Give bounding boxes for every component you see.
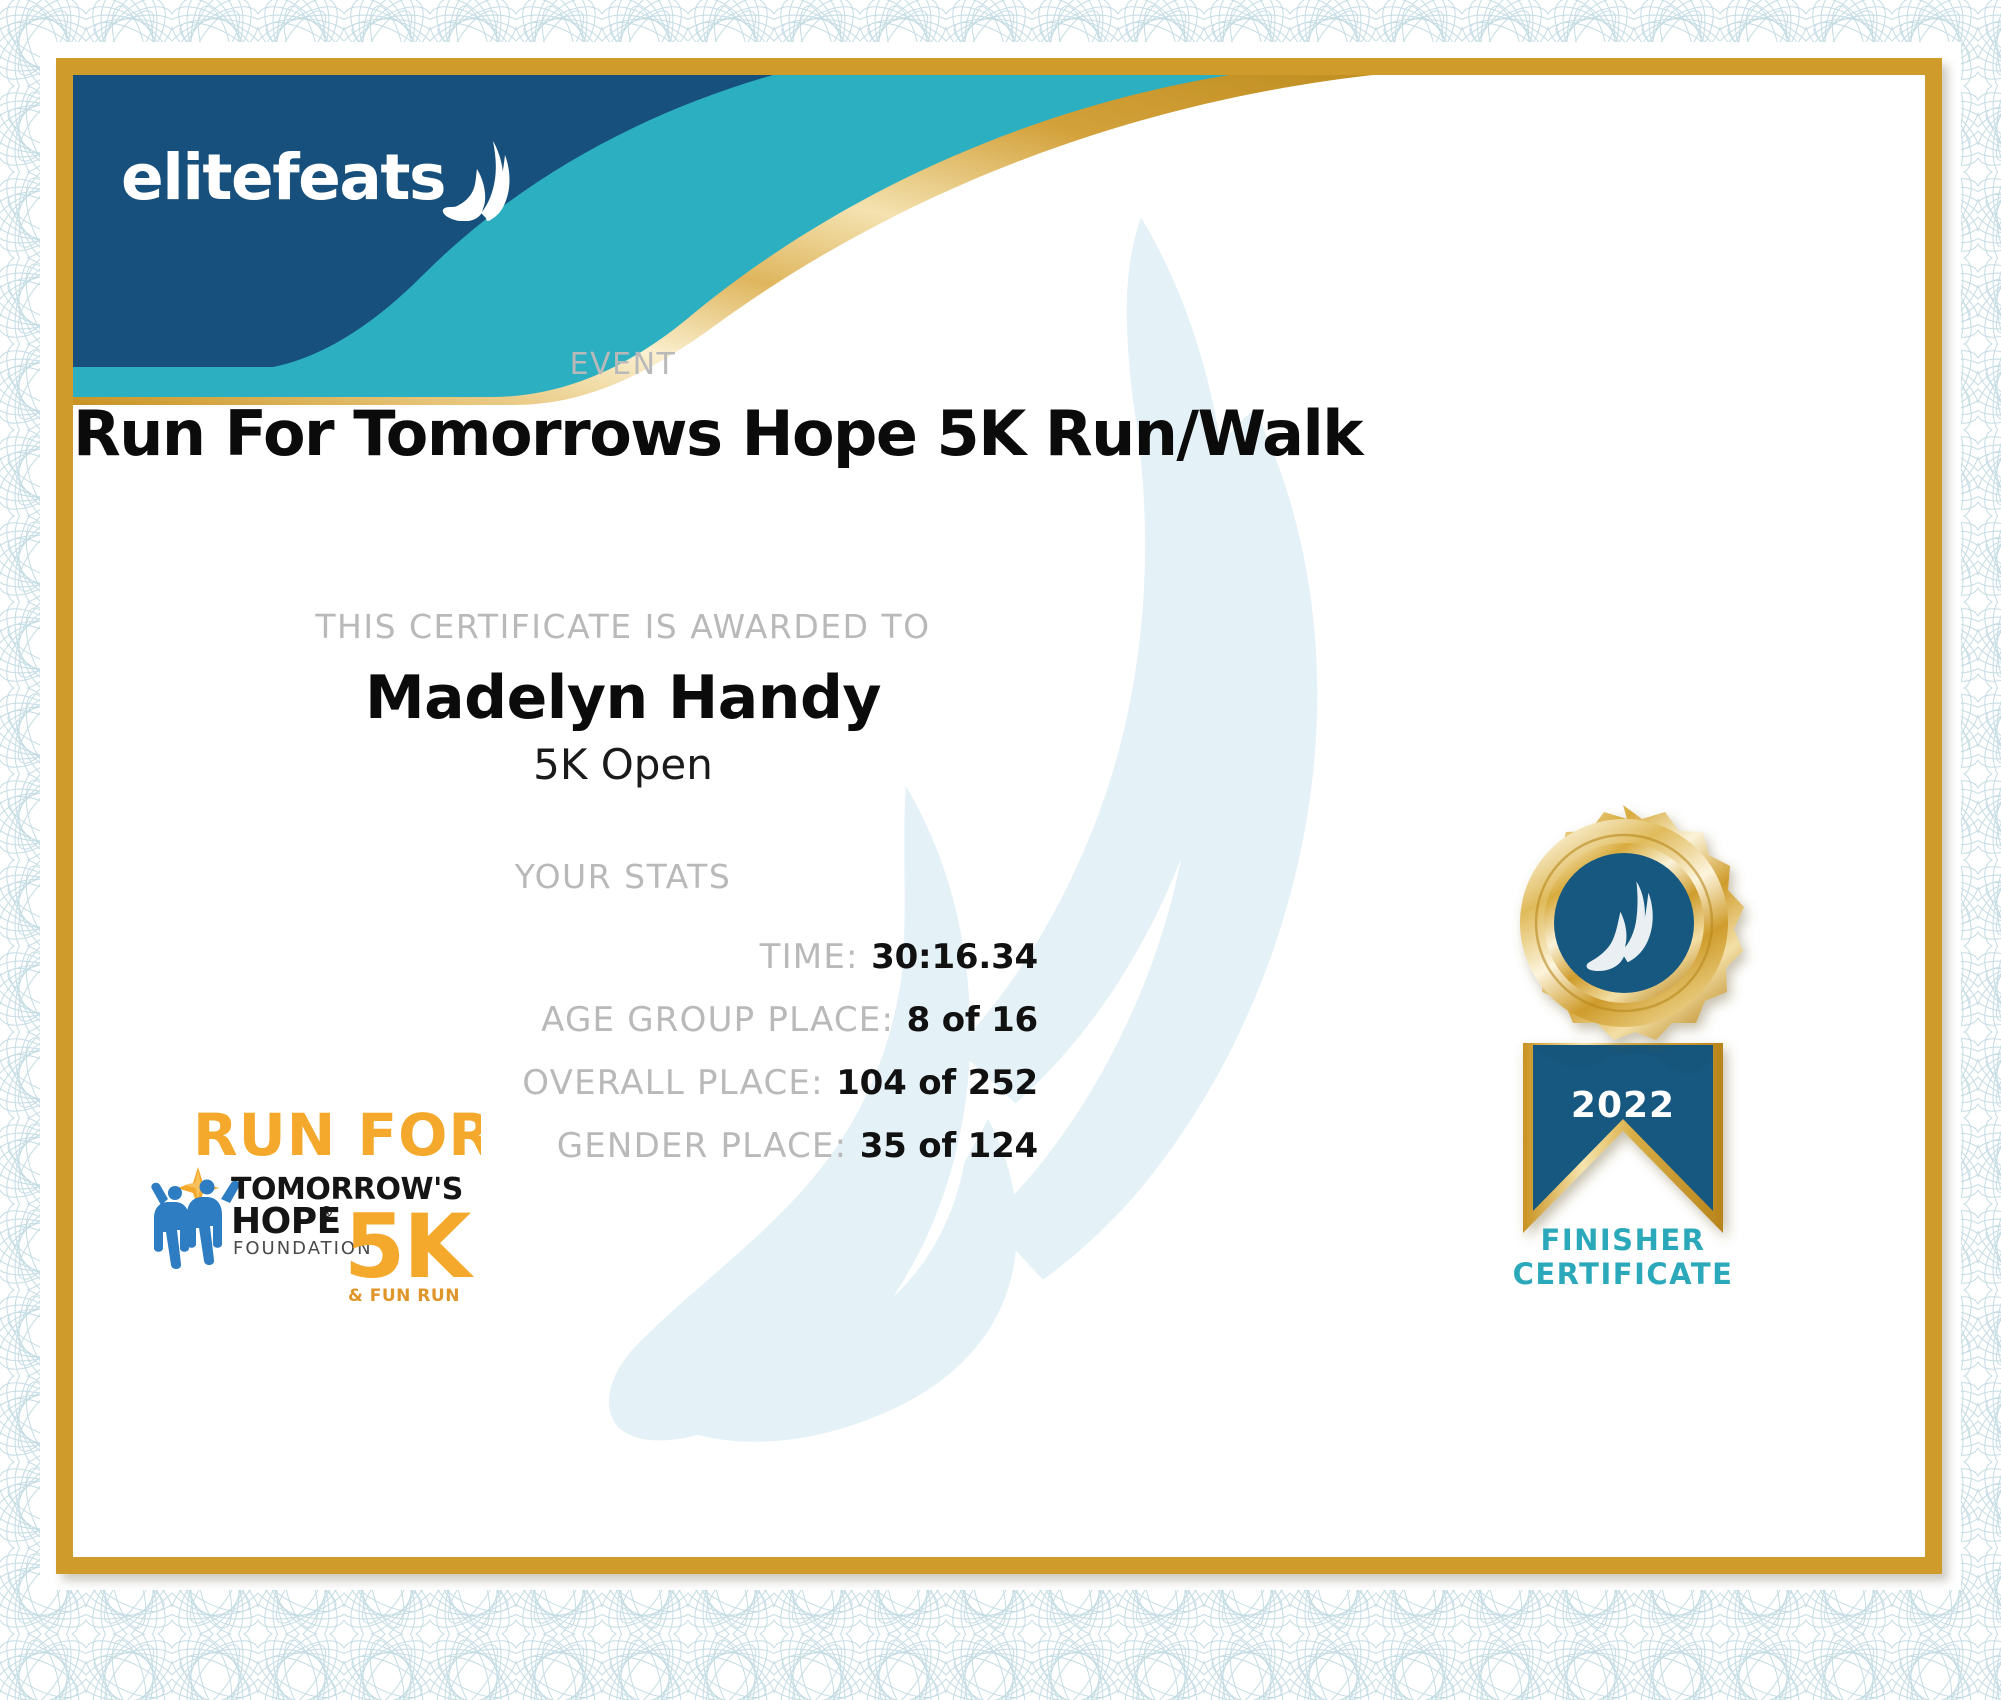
race-logo-distance: 5K <box>344 1195 474 1298</box>
race-logo-registered-mark: ® <box>319 1203 334 1221</box>
event-label: EVENT <box>73 347 1173 382</box>
stat-key: GENDER PLACE: <box>557 1126 848 1166</box>
stat-value: 35 of 124 <box>860 1126 1038 1166</box>
stat-key: TIME: <box>760 937 859 977</box>
finisher-medal: 2022 <box>1453 793 1793 1293</box>
stat-row-age-group-place: AGE GROUP PLACE: 8 of 16 <box>73 1000 1038 1040</box>
finisher-certificate-caption: FINISHER CERTIFICATE <box>1453 1223 1793 1291</box>
stat-value: 30:16.34 <box>871 937 1038 977</box>
stat-value: 104 of 252 <box>836 1063 1038 1103</box>
your-stats-label: YOUR STATS <box>73 857 1173 896</box>
race-logo-run-for: RUN FOR <box>193 1101 481 1169</box>
stat-row-time: TIME: 30:16.34 <box>73 937 1038 977</box>
run-for-tomorrows-hope-5k-logo: RUN FOR TOMORROW'S HOPE ® <box>151 1101 481 1331</box>
medal-year: 2022 <box>1571 1085 1675 1126</box>
gold-frame: elitefeats EVENT Run For Tomorrows Hope … <box>56 58 1942 1574</box>
event-title: Run For Tomorrows Hope 5K Run/Walk <box>73 397 1173 470</box>
medal-badge <box>1520 805 1744 1040</box>
recipient-name: Madelyn Handy <box>73 663 1173 733</box>
stat-key: OVERALL PLACE: <box>522 1063 823 1103</box>
finisher-caption-line2: CERTIFICATE <box>1453 1257 1793 1291</box>
stat-row-overall-place: OVERALL PLACE: 104 of 252 <box>73 1063 1038 1103</box>
recipient-division: 5K Open <box>73 740 1173 789</box>
stat-value: 8 of 16 <box>907 1000 1038 1040</box>
certificate-page: elitefeats EVENT Run For Tomorrows Hope … <box>0 0 2001 1700</box>
finisher-caption-line1: FINISHER <box>1453 1223 1793 1257</box>
certificate-canvas: elitefeats EVENT Run For Tomorrows Hope … <box>73 75 1925 1557</box>
medal-ribbon <box>1523 1043 1723 1233</box>
race-logo-tagline: & FUN RUN <box>348 1286 460 1306</box>
awarded-to-label: THIS CERTIFICATE IS AWARDED TO <box>73 607 1173 646</box>
stat-key: AGE GROUP PLACE: <box>541 1000 894 1040</box>
